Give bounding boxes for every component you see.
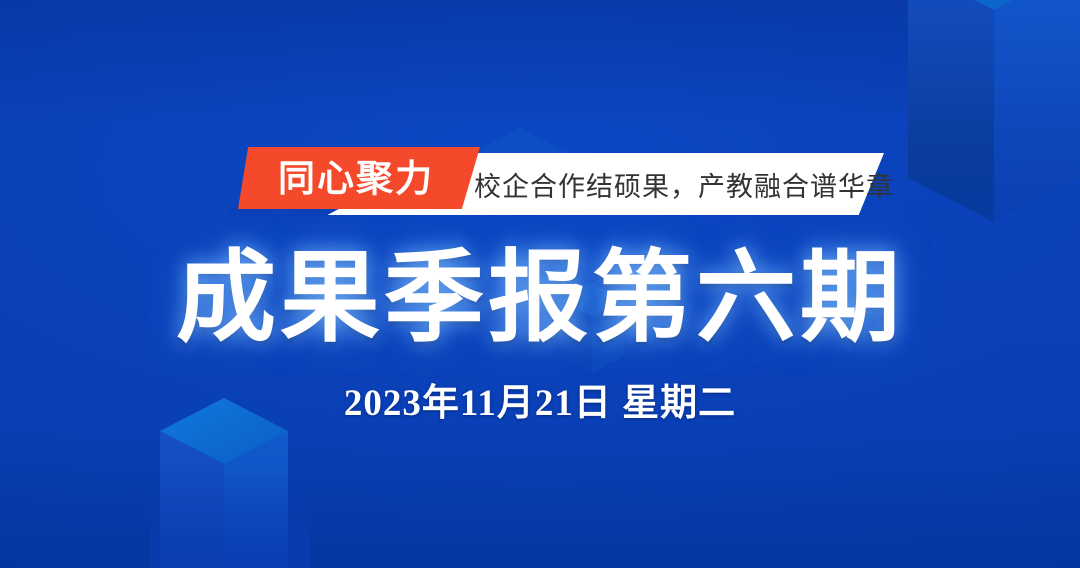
banner-kicker-text: 同心聚力 — [278, 160, 440, 197]
headline-banner: 同心聚力 校企合作结硕果，产教融合谱华章 — [0, 147, 1080, 223]
banner-orange-panel: 同心聚力 — [238, 147, 480, 209]
poster-canvas: 同心聚力 校企合作结硕果，产教融合谱华章 成果季报第六期 2023年11月21日… — [0, 0, 1080, 568]
publication-date: 2023年11月21日 星期二 — [0, 372, 1080, 426]
cube-bottom-left-fade — [150, 470, 310, 568]
banner-subtitle-text: 校企合作结硕果，产教融合谱华章 — [474, 153, 894, 215]
page-title: 成果季报第六期 — [0, 243, 1080, 355]
